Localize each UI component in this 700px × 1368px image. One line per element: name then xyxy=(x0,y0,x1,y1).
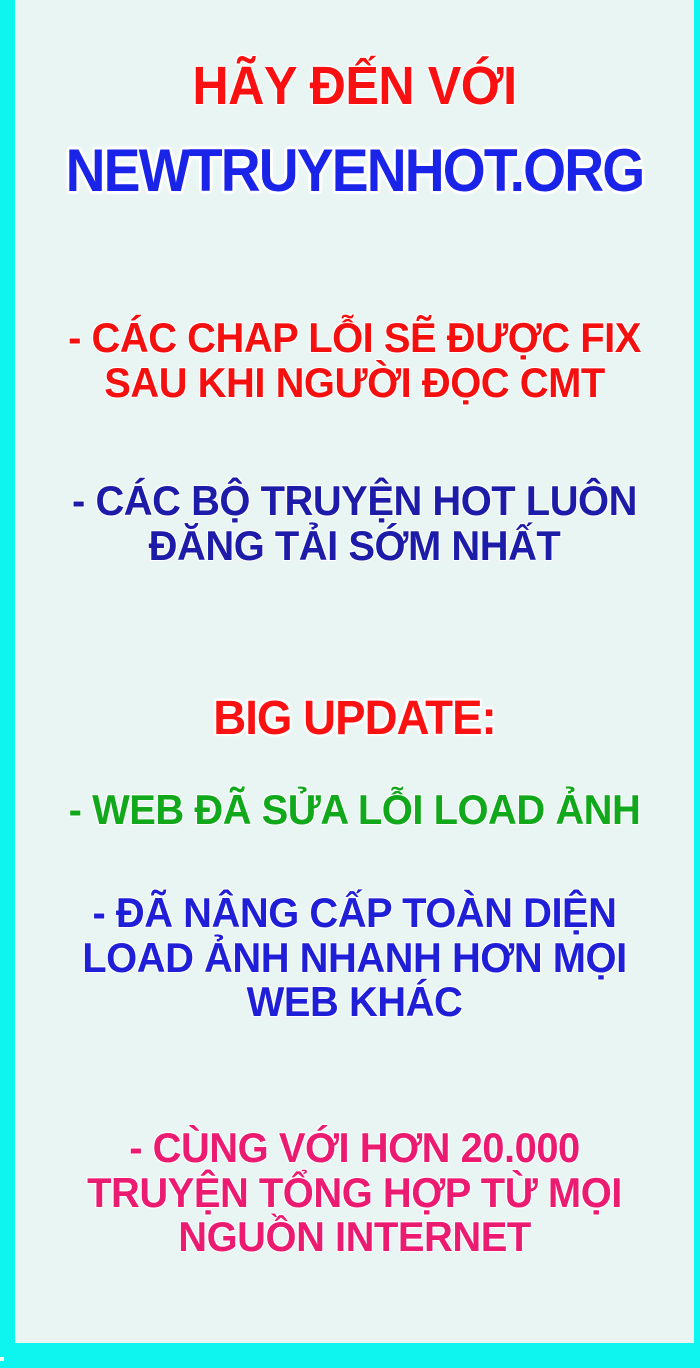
bullet-image-load-fixed-line-1: - WEB ĐÃ SỬA LỖI LOAD ẢNH xyxy=(32,788,677,833)
bullet-hot-series-line-2: ĐĂNG TẢI SỚM NHẤT xyxy=(32,524,677,569)
bullet-full-upgrade-line-3: WEB KHÁC xyxy=(32,980,677,1025)
big-update-title-block: BIG UPDATE: xyxy=(15,694,694,745)
site-domain-block[interactable]: NEWTRUYENHOT.ORG xyxy=(15,139,694,203)
bullet-fix-chapters-line-2: SAU KHI NGƯỜI ĐỌC CMT xyxy=(32,361,677,406)
bullet-hot-series: - CÁC BỘ TRUYỆN HOT LUÔN ĐĂNG TẢI SỚM NH… xyxy=(15,479,694,568)
bullet-story-count: - CÙNG VỚI HƠN 20.000 TRUYỆN TỔNG HỢP TỪ… xyxy=(15,1126,694,1260)
bullet-full-upgrade: - ĐÃ NÂNG CẤP TOÀN DIỆN LOAD ẢNH NHANH H… xyxy=(15,891,694,1025)
announcement-page: HÃY ĐẾN VỚI NEWTRUYENHOT.ORG - CÁC CHAP … xyxy=(0,0,700,1368)
bullet-image-load-fixed: - WEB ĐÃ SỬA LỖI LOAD ẢNH xyxy=(15,788,694,833)
site-domain-text[interactable]: NEWTRUYENHOT.ORG xyxy=(42,139,667,203)
headline-block: HÃY ĐẾN VỚI xyxy=(15,58,694,115)
bullet-fix-chapters: - CÁC CHAP LỖI SẼ ĐƯỢC FIX SAU KHI NGƯỜI… xyxy=(15,316,694,405)
bullet-story-count-line-2: TRUYỆN TỔNG HỢP TỪ MỌI xyxy=(32,1171,677,1216)
bullet-fix-chapters-line-1: - CÁC CHAP LỖI SẼ ĐƯỢC FIX xyxy=(32,316,677,361)
bullet-story-count-line-1: - CÙNG VỚI HƠN 20.000 xyxy=(32,1126,677,1171)
bullet-story-count-line-3: NGUỒN INTERNET xyxy=(32,1215,677,1260)
bullet-hot-series-line-1: - CÁC BỘ TRUYỆN HOT LUÔN xyxy=(32,479,677,524)
content-panel: HÃY ĐẾN VỚI NEWTRUYENHOT.ORG - CÁC CHAP … xyxy=(15,0,694,1343)
headline-text: HÃY ĐẾN VỚI xyxy=(39,58,670,115)
bullet-full-upgrade-line-1: - ĐÃ NÂNG CẤP TOÀN DIỆN xyxy=(32,891,677,936)
big-update-title: BIG UPDATE: xyxy=(32,694,677,745)
bullet-full-upgrade-line-2: LOAD ẢNH NHANH HƠN MỌI xyxy=(32,936,677,981)
bottom-left-marker xyxy=(0,1357,4,1361)
